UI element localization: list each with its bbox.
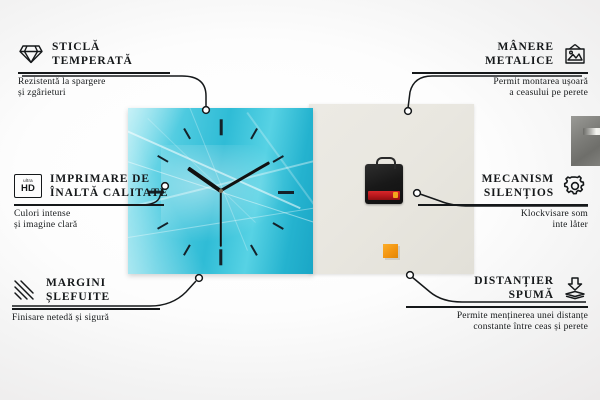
infographic-stage: STICLĂ TEMPERATĂ Rezistentă la spargere … bbox=[0, 0, 600, 400]
feature-rule bbox=[18, 72, 170, 74]
feature-title: STICLĂ TEMPERATĂ bbox=[52, 40, 133, 68]
feature-title-line2: ȘLEFUITE bbox=[46, 290, 110, 304]
feature-header: MÂNERE METALICE bbox=[412, 40, 588, 68]
feature-rule bbox=[412, 72, 588, 74]
feature-sub-line1: Culori intense bbox=[14, 209, 194, 221]
ultra-hd-main-label: HD bbox=[21, 184, 35, 194]
feature-subtitle: Finisare netedă și sigură bbox=[12, 313, 187, 325]
feature-metal-handles: MÂNERE METALICE Permit montarea ușoară a… bbox=[412, 40, 588, 100]
feature-polished-edges: MARGINI ȘLEFUITE Finisare netedă și sigu… bbox=[12, 276, 187, 324]
down-arrow-layers-icon bbox=[562, 276, 588, 300]
feature-sub-line2: constante între ceas și perete bbox=[406, 322, 588, 334]
feature-rule bbox=[406, 306, 588, 308]
feature-header: ultra HD IMPRIMARE DE ÎNALTĂ CALITATE bbox=[14, 172, 194, 200]
feature-foam-spacer: DISTANȚIER SPUMĂ Permite menținerea unei… bbox=[406, 274, 588, 334]
feature-sub-line1: Finisare netedă și sigură bbox=[12, 313, 187, 325]
feature-title-line1: MÂNERE bbox=[485, 40, 554, 54]
feature-silent-mechanism: MECANISM SILENȚIOS Klockvisare som inte … bbox=[418, 172, 588, 232]
feature-header: STICLĂ TEMPERATĂ bbox=[18, 40, 188, 68]
feature-subtitle: Permit montarea ușoară a ceasului pe per… bbox=[412, 77, 588, 100]
feature-title-line1: MECANISM bbox=[482, 172, 554, 186]
feature-sub-line2: și imagine clară bbox=[14, 220, 194, 232]
feature-title-line2: METALICE bbox=[485, 54, 554, 68]
feature-sub-line1: Permite menținerea unei distanțe bbox=[406, 311, 588, 323]
feature-title-line2: TEMPERATĂ bbox=[52, 54, 133, 68]
feature-title-line2: SPUMĂ bbox=[474, 288, 554, 302]
feature-title: IMPRIMARE DE ÎNALTĂ CALITATE bbox=[50, 172, 168, 200]
feature-rule bbox=[418, 204, 588, 206]
connector-dot-edges bbox=[196, 275, 203, 282]
feature-header: MARGINI ȘLEFUITE bbox=[12, 276, 187, 304]
hatched-edge-icon bbox=[12, 279, 38, 301]
ultra-hd-icon: ultra HD bbox=[14, 174, 42, 198]
gear-icon bbox=[562, 174, 588, 198]
picture-frame-hanger-icon bbox=[562, 43, 588, 65]
feature-sub-line1: Permit montarea ușoară bbox=[412, 77, 588, 89]
feature-title-line1: DISTANȚIER bbox=[474, 274, 554, 288]
feature-rule bbox=[12, 308, 160, 310]
feature-sub-line2: inte låter bbox=[418, 220, 588, 232]
feature-title-line1: STICLĂ bbox=[52, 40, 133, 54]
feature-subtitle: Culori intense și imagine clară bbox=[14, 209, 194, 232]
feature-title-line2: SILENȚIOS bbox=[482, 186, 554, 200]
feature-title-line1: IMPRIMARE DE bbox=[50, 172, 168, 186]
feature-title-line2: ÎNALTĂ CALITATE bbox=[50, 186, 168, 200]
connector-dot-handles bbox=[405, 108, 412, 115]
diamond-icon bbox=[18, 43, 44, 65]
feature-sub-line2: și zgârieturi bbox=[18, 88, 188, 100]
feature-title: DISTANȚIER SPUMĂ bbox=[474, 274, 554, 302]
feature-rule bbox=[14, 204, 164, 206]
feature-title: MÂNERE METALICE bbox=[485, 40, 554, 68]
feature-subtitle: Permite menținerea unei distanțe constan… bbox=[406, 311, 588, 334]
feature-title: MECANISM SILENȚIOS bbox=[482, 172, 554, 200]
feature-high-quality-print: ultra HD IMPRIMARE DE ÎNALTĂ CALITATE Cu… bbox=[14, 172, 194, 232]
feature-subtitle: Rezistentă la spargere și zgârieturi bbox=[18, 77, 188, 100]
feature-header: MECANISM SILENȚIOS bbox=[418, 172, 588, 200]
feature-header: DISTANȚIER SPUMĂ bbox=[406, 274, 588, 302]
feature-tempered-glass: STICLĂ TEMPERATĂ Rezistentă la spargere … bbox=[18, 40, 188, 100]
feature-sub-line1: Rezistentă la spargere bbox=[18, 77, 188, 89]
feature-sub-line1: Klockvisare som bbox=[418, 209, 588, 221]
feature-subtitle: Klockvisare som inte låter bbox=[418, 209, 588, 232]
feature-sub-line2: a ceasului pe perete bbox=[412, 88, 588, 100]
connector-dot-tempered-glass bbox=[203, 107, 210, 114]
feature-title-line1: MARGINI bbox=[46, 276, 110, 290]
feature-title: MARGINI ȘLEFUITE bbox=[46, 276, 110, 304]
